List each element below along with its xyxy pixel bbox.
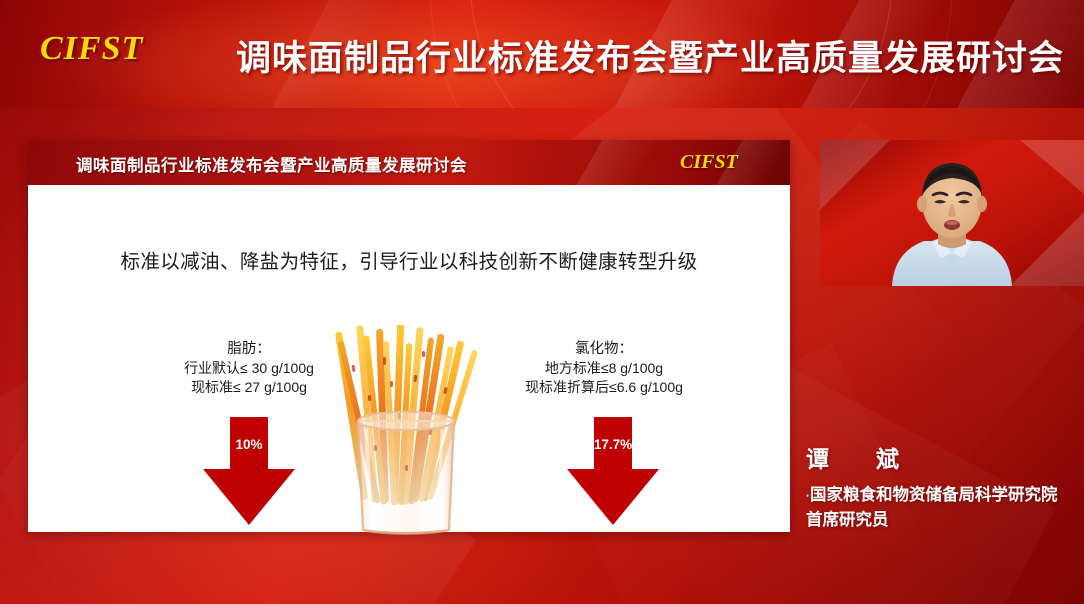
chloride-metric-line-1: 地方标准≤8 g/100g	[464, 359, 744, 378]
down-arrow-icon	[201, 417, 297, 527]
event-banner: CIFST 调味面制品行业标准发布会暨产业高质量发展研讨会	[0, 0, 1084, 108]
chloride-reduction-arrow-icon: 17.7%	[565, 417, 661, 527]
chloride-metric-line-2: 现标准折算后≤6.6 g/100g	[464, 378, 744, 397]
slide-heading: 标准以减油、降盐为特征，引导行业以科技创新不断健康转型升级	[28, 245, 790, 274]
chloride-metric-title: 氯化物：	[464, 340, 744, 359]
noodle-sticks-in-glass-illustration	[330, 325, 482, 540]
slide-cifst-logo: CIFST	[680, 151, 738, 174]
down-arrow-icon	[565, 417, 661, 527]
speaker-org-line-1: 国家粮食和物资储备局科学研究院	[810, 486, 1058, 504]
slide-header-title: 调味面制品行业标准发布会暨产业高质量发展研讨会	[76, 152, 467, 176]
product-photo-spicy-noodle-sticks	[330, 325, 482, 540]
fat-reduction-arrow-icon: 10%	[201, 417, 297, 527]
slide-header-bar: 调味面制品行业标准发布会暨产业高质量发展研讨会 CIFST	[28, 140, 790, 185]
presentation-screen: CIFST 调味面制品行业标准发布会暨产业高质量发展研讨会 调味面制品行业标准发…	[0, 0, 1084, 604]
presentation-slide: 调味面制品行业标准发布会暨产业高质量发展研讨会 CIFST 标准以减油、降盐为特…	[28, 140, 790, 532]
event-title: 调味面制品行业标准发布会暨产业高质量发展研讨会	[236, 30, 1064, 81]
speaker-org-line-2: 首席研究员	[806, 511, 889, 529]
speaker-caption: 谭 斌 ·国家粮食和物资储备局科学研究院 首席研究员	[806, 440, 1084, 533]
speaker-portrait	[820, 140, 1084, 286]
cifst-logo: CIFST	[40, 30, 143, 68]
speaker-organization: ·国家粮食和物资储备局科学研究院 首席研究员	[806, 483, 1084, 533]
speaker-name: 谭 斌	[806, 440, 1084, 474]
chloride-metric-block: 氯化物： 地方标准≤8 g/100g 现标准折算后≤6.6 g/100g	[464, 340, 744, 397]
slide-body: 标准以减油、降盐为特征，引导行业以科技创新不断健康转型升级 脂肪： 行业默认≤ …	[28, 185, 790, 532]
slide-header-streak	[562, 140, 674, 185]
glass-cup	[358, 412, 454, 535]
speaker-video-feed[interactable]	[820, 140, 1084, 286]
